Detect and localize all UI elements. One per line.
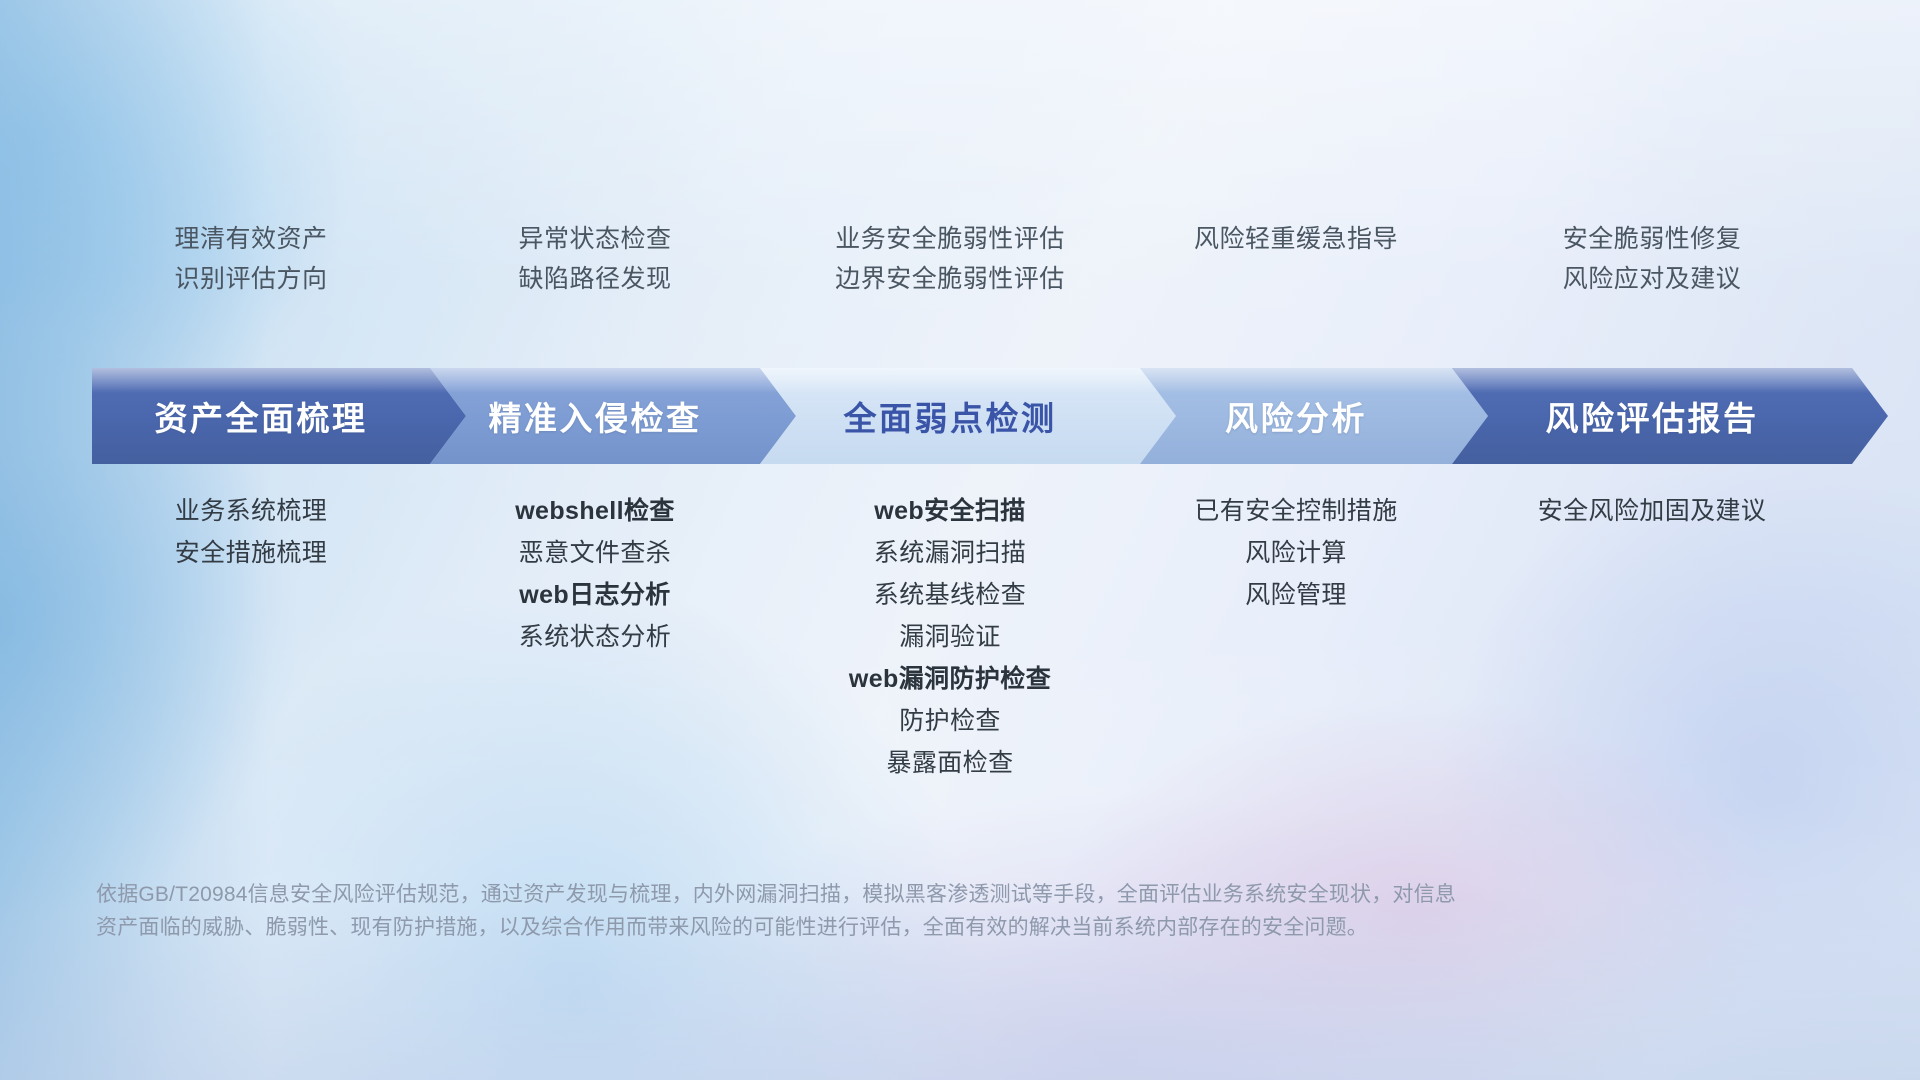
stage-top-caption-risk-analysis: 风险轻重缓急指导 [1140,226,1452,253]
stage-top-captions: 理清有效资产识别评估方向异常状态检查缺陷路径发现业务安全脆弱性评估边界安全脆弱性… [0,226,1920,336]
stage-top-caption-intrusion-check: 异常状态检查缺陷路径发现 [430,226,760,292]
process-stage-asset-inventory[interactable]: 资产全面梳理 [92,368,466,464]
stage-bottom-item: 系统状态分析 [519,624,671,651]
stage-top-item: 风险应对及建议 [1563,266,1742,293]
footer-description: 依据GB/T20984信息安全风险评估规范，通过资产发现与梳理，内外网漏洞扫描，… [96,878,1736,944]
stage-bottom-item: web日志分析 [519,582,670,609]
stage-top-item: 风险轻重缓急指导 [1194,226,1398,253]
stage-bottom-item: 风险管理 [1245,582,1347,609]
process-stage-risk-analysis[interactable]: 风险分析 [1140,368,1488,464]
stage-bottom-item: 恶意文件查杀 [519,540,671,567]
process-stage-label: 全面弱点检测 [844,392,1057,440]
stage-top-item: 边界安全脆弱性评估 [835,266,1065,293]
stage-bottom-item: web漏洞防护检查 [849,666,1051,693]
process-stage-label: 精准入侵检查 [489,392,702,440]
stage-top-item: 异常状态检查 [518,226,671,253]
process-stage-label: 风险评估报告 [1546,392,1759,440]
stage-bottom-item: 业务系统梳理 [175,498,327,525]
diagram-content: 理清有效资产识别评估方向异常状态检查缺陷路径发现业务安全脆弱性评估边界安全脆弱性… [0,0,1920,1080]
footer-line-2: 资产面临的威胁、脆弱性、现有防护措施，以及综合作用而带来风险的可能性进行评估，全… [96,911,1736,944]
stage-bottom-caption-assessment-report: 安全风险加固及建议 [1452,498,1852,525]
stage-bottom-item: 系统漏洞扫描 [874,540,1026,567]
stage-bottom-caption-risk-analysis: 已有安全控制措施风险计算风险管理 [1140,498,1452,609]
stage-bottom-item: 漏洞验证 [899,624,1001,651]
stage-bottom-caption-intrusion-check: webshell检查恶意文件查杀web日志分析系统状态分析 [430,498,760,651]
process-stage-label: 资产全面梳理 [155,392,368,440]
stage-bottom-item: 系统基线检查 [874,582,1026,609]
stage-bottom-item: 安全风险加固及建议 [1538,498,1767,525]
stage-bottom-item: 安全措施梳理 [175,540,327,567]
stage-top-item: 缺陷路径发现 [518,266,671,293]
stage-top-item: 业务安全脆弱性评估 [835,226,1065,253]
stage-bottom-item: webshell检查 [515,498,675,525]
stage-bottom-item: 防护检查 [899,708,1001,735]
stage-bottom-caption-asset-inventory: 业务系统梳理安全措施梳理 [82,498,420,567]
process-stage-weakness-detection[interactable]: 全面弱点检测 [760,368,1176,464]
process-stage-intrusion-check[interactable]: 精准入侵检查 [430,368,796,464]
stage-top-caption-asset-inventory: 理清有效资产识别评估方向 [82,226,420,292]
stage-bottom-item: 已有安全控制措施 [1194,498,1397,525]
stage-top-item: 识别评估方向 [174,266,327,293]
slide-canvas: 理清有效资产识别评估方向异常状态检查缺陷路径发现业务安全脆弱性评估边界安全脆弱性… [0,0,1920,1080]
stage-top-caption-assessment-report: 安全脆弱性修复风险应对及建议 [1452,226,1852,292]
process-stage-assessment-report[interactable]: 风险评估报告 [1452,368,1888,464]
process-arrow-band: 资产全面梳理精准入侵检查全面弱点检测风险分析风险评估报告 [0,368,1920,464]
stage-top-item: 理清有效资产 [174,226,327,253]
stage-bottom-item: 暴露面检查 [886,750,1013,777]
stage-bottom-item: 风险计算 [1245,540,1347,567]
stage-bottom-item: web安全扫描 [874,498,1025,525]
stage-top-caption-weakness-detection: 业务安全脆弱性评估边界安全脆弱性评估 [760,226,1140,292]
stage-top-item: 安全脆弱性修复 [1563,226,1742,253]
stage-bottom-caption-weakness-detection: web安全扫描系统漏洞扫描系统基线检查漏洞验证web漏洞防护检查防护检查暴露面检… [760,498,1140,777]
process-stage-label: 风险分析 [1225,392,1367,440]
footer-line-1: 依据GB/T20984信息安全风险评估规范，通过资产发现与梳理，内外网漏洞扫描，… [96,878,1736,911]
